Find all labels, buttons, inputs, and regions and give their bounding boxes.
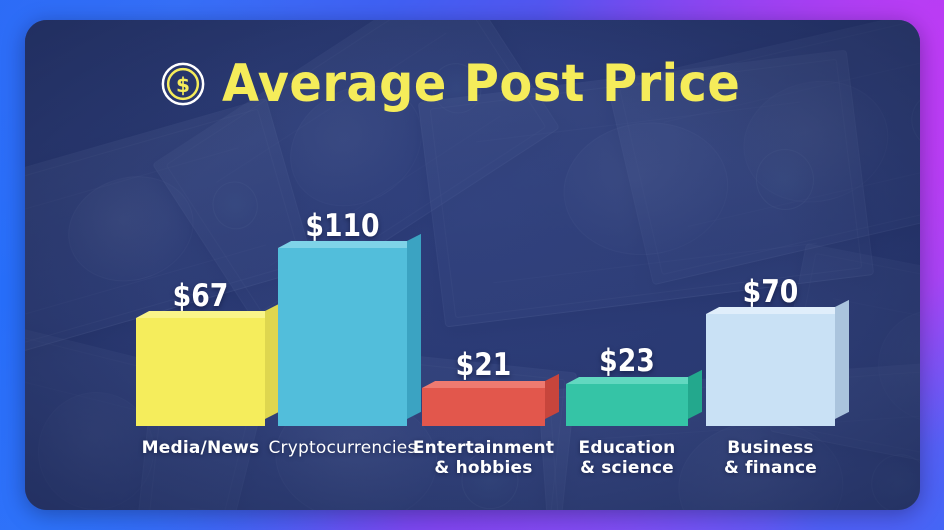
bar-category-line1: Business [727, 438, 813, 458]
bar-value-label: $70 [715, 277, 826, 308]
bar-value-label: $23 [575, 346, 680, 377]
bar-value-label: $67 [145, 281, 256, 312]
bar-top-face [566, 377, 701, 384]
bar-block [566, 384, 688, 426]
bar-category-line1: Cryptocurrencies [268, 438, 416, 458]
bar-block [706, 314, 835, 426]
bar-side-face [688, 370, 702, 419]
bar-front-face [706, 314, 835, 426]
bar-category-line2: & hobbies [434, 458, 532, 478]
bar-chart: $67 Media/News $110 C [25, 20, 920, 510]
bar-value-label: $21 [431, 350, 537, 381]
bar-category-line1: Media/News [142, 438, 260, 458]
bar-side-face [407, 234, 421, 419]
bar-block [136, 318, 265, 426]
bar-front-face [566, 384, 688, 426]
bar-front-face [278, 248, 407, 426]
bar-top-face [136, 311, 278, 318]
bar-category-line1: Education [579, 438, 676, 458]
bar-category-line2: & finance [724, 458, 817, 478]
bar-side-face [265, 304, 279, 419]
bar-category-line1: Entertainment [413, 438, 554, 458]
bar-side-face [835, 300, 849, 419]
bar-category-line2: & science [580, 458, 674, 478]
bar-category-label: Business & finance [680, 438, 861, 478]
bar-block [422, 388, 545, 426]
bar-top-face [278, 241, 420, 248]
bar-top-face [706, 307, 848, 314]
bar-side-face [545, 374, 559, 419]
infographic-canvas: $ Average Post Price $67 Media/News $11 [0, 0, 944, 530]
bar-value-label: $110 [287, 211, 398, 242]
chart-card: $ Average Post Price $67 Media/News $11 [25, 20, 920, 510]
bar-front-face [136, 318, 265, 426]
bar-top-face [422, 381, 558, 388]
bar-block [278, 248, 407, 426]
bar-front-face [422, 388, 545, 426]
